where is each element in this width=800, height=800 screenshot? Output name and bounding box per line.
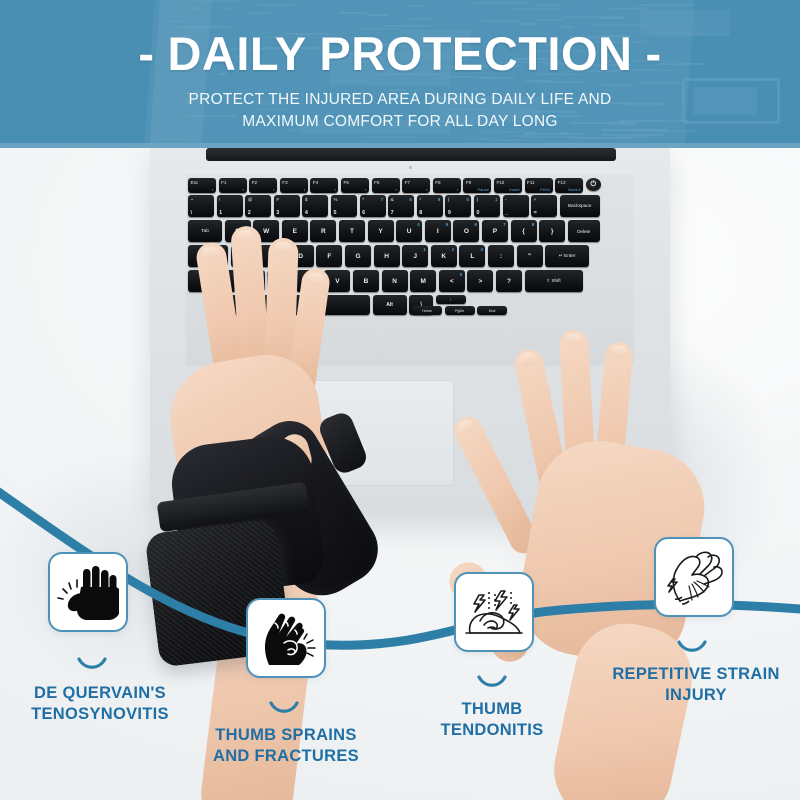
condition-label-2: THUMB SPRAINS AND FRACTURES [186,725,386,767]
condition-label-4: REPETITIVE STRAIN INJURY [592,664,800,706]
header-text-group: -DAILY PROTECTION- PROTECT THE INJURED A… [0,0,800,148]
condition-label-3-line2: TENDONITIS [441,721,544,739]
header-subtitle: PROTECT THE INJURED AREA DURING DAILY LI… [0,89,800,133]
two-hands-gripping-thumb-icon [255,609,317,667]
condition-label-1: DE QUERVAIN'S TENOSYNOVITIS [0,683,200,725]
subtitle-line-2: MAXIMUM COMFORT FOR ALL DAY LONG [242,113,557,130]
condition-label-2-line2: AND FRACTURES [213,747,359,765]
condition-card-3[interactable] [454,572,534,652]
title-dash-right: - [646,30,662,77]
chevron-down-icon-1 [76,656,108,672]
condition-label-1-line2: TENOSYNOVITIS [31,705,169,723]
condition-label-3: THUMB TENDONITIS [392,699,592,741]
hand-strain-lines-icon [662,547,726,607]
condition-card-2[interactable] [246,598,326,678]
subtitle-line-1: PROTECT THE INJURED AREA DURING DAILY LI… [189,91,612,108]
condition-label-2-line1: THUMB SPRAINS [215,726,356,744]
chevron-down-icon-3 [476,674,508,690]
page-title: -DAILY PROTECTION- [0,0,800,77]
product-infographic-poster: -DAILY PROTECTION- PROTECT THE INJURED A… [0,0,800,800]
condition-card-4[interactable] [654,537,734,617]
condition-card-1[interactable] [48,552,128,632]
page-title-text: DAILY PROTECTION [167,27,632,80]
condition-label-4-line1: REPETITIVE STRAIN [612,665,779,683]
title-dash-left: - [138,30,154,77]
hand-on-mouse-lightning-icon [462,583,526,641]
condition-label-3-line1: THUMB [461,700,522,718]
header-banner: -DAILY PROTECTION- PROTECT THE INJURED A… [0,0,800,148]
chevron-down-icon-4 [676,639,708,655]
hand-thumb-pain-silhouette-icon [57,563,119,621]
condition-label-1-line1: DE QUERVAIN'S [34,684,166,702]
condition-label-4-line2: INJURY [665,686,727,704]
chevron-down-icon-2 [268,700,300,716]
